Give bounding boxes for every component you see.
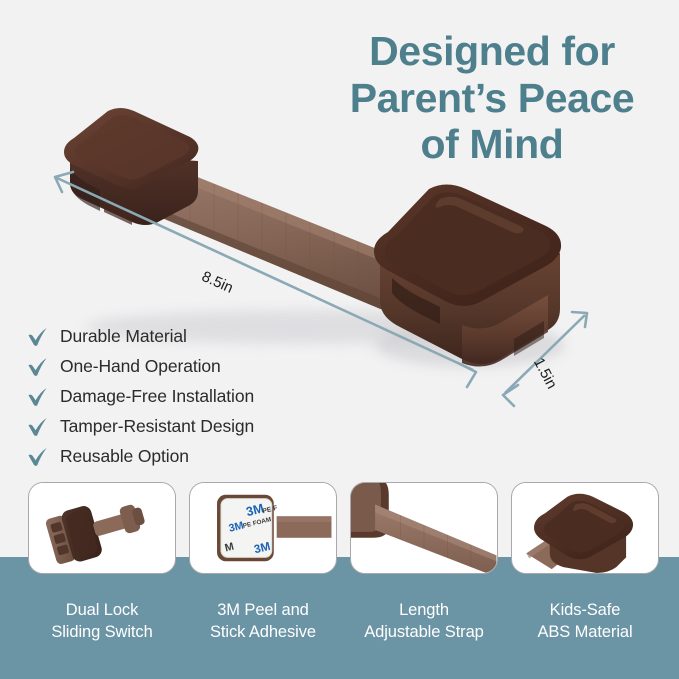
feature-list: Durable Material One-Hand Operation Dama… bbox=[27, 322, 357, 472]
feature-item-damage-free-installation: Damage-Free Installation bbox=[27, 382, 357, 411]
feature-label: Reusable Option bbox=[60, 446, 189, 467]
check-icon bbox=[27, 417, 49, 437]
feature-card-dual-lock-sliding-switch[interactable] bbox=[28, 482, 176, 574]
card-caption-3m-adhesive: 3M Peel and Stick Adhesive bbox=[173, 600, 353, 644]
lock-sliding-switch-icon bbox=[29, 483, 175, 573]
check-icon bbox=[27, 327, 49, 347]
feature-item-reusable-option: Reusable Option bbox=[27, 442, 357, 471]
feature-item-durable-material: Durable Material bbox=[27, 322, 357, 351]
adjustable-strap-icon bbox=[351, 483, 497, 573]
feature-label: Tamper-Resistant Design bbox=[60, 416, 254, 437]
caption-line-2: Sliding Switch bbox=[12, 622, 192, 644]
card-caption-adjustable-strap: Length Adjustable Strap bbox=[334, 600, 514, 644]
feature-label: One-Hand Operation bbox=[60, 356, 221, 377]
caption-line-1: 3M Peel and bbox=[173, 600, 353, 622]
caption-line-1: Length bbox=[334, 600, 514, 622]
feature-item-tamper-resistant-design: Tamper-Resistant Design bbox=[27, 412, 357, 441]
product-infographic: Designed for Parent’s Peace of Mind bbox=[0, 0, 679, 679]
caption-line-2: Stick Adhesive bbox=[173, 622, 353, 644]
caption-line-2: Adjustable Strap bbox=[334, 622, 514, 644]
feature-item-one-hand-operation: One-Hand Operation bbox=[27, 352, 357, 381]
check-icon bbox=[27, 357, 49, 377]
feature-card-adjustable-strap[interactable] bbox=[350, 482, 498, 574]
card-caption-dual-lock: Dual Lock Sliding Switch bbox=[12, 600, 192, 644]
card-caption-abs-material: Kids-Safe ABS Material bbox=[495, 600, 675, 644]
headline-line-1: Designed for bbox=[322, 28, 662, 75]
caption-line-1: Dual Lock bbox=[12, 600, 192, 622]
caption-line-2: ABS Material bbox=[495, 622, 675, 644]
feature-card-3m-adhesive[interactable]: 3M PE F 3M PE FOAM M 3M bbox=[189, 482, 337, 574]
abs-lock-body-icon bbox=[512, 483, 658, 573]
feature-label: Durable Material bbox=[60, 326, 187, 347]
check-icon bbox=[27, 447, 49, 467]
check-icon bbox=[27, 387, 49, 407]
anchor-pad bbox=[64, 108, 198, 225]
feature-label: Damage-Free Installation bbox=[60, 386, 254, 407]
3m-adhesive-pad-icon: 3M PE F 3M PE FOAM M 3M bbox=[190, 483, 336, 573]
caption-line-1: Kids-Safe bbox=[495, 600, 675, 622]
feature-card-abs-material[interactable] bbox=[511, 482, 659, 574]
